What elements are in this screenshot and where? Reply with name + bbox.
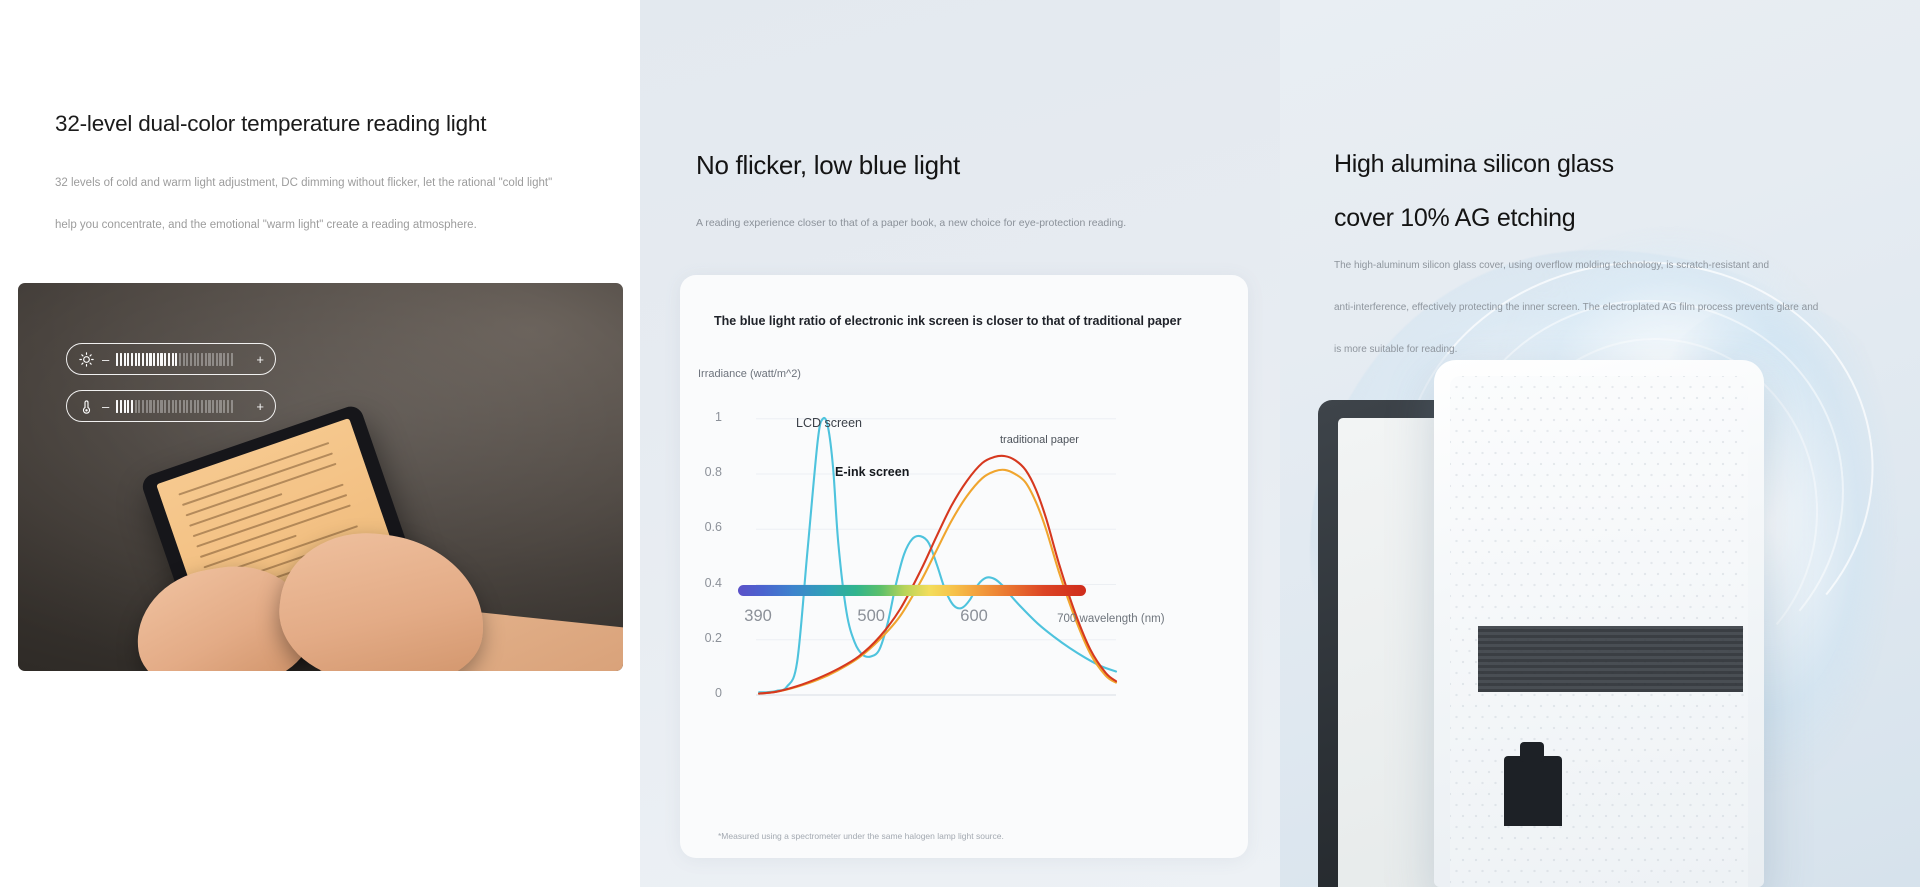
level-bar — [164, 353, 166, 366]
panel1-title: 32-level dual-color temperature reading … — [55, 111, 486, 137]
chart-y-tick-label: 0 — [692, 686, 722, 700]
chart-footnote: *Measured using a spectrometer under the… — [718, 831, 1004, 841]
brightness-slider-control[interactable]: – + — [66, 343, 276, 375]
level-bar — [183, 400, 185, 413]
level-bar — [172, 400, 174, 413]
level-bar — [160, 353, 162, 366]
level-bar — [138, 400, 140, 413]
level-bar — [223, 353, 225, 366]
chart-y-tick-label: 1 — [692, 410, 722, 424]
level-bar — [168, 400, 170, 413]
panel2-title: No flicker, low blue light — [696, 150, 960, 181]
level-bar — [231, 353, 233, 366]
chart-y-tick-label: 0.4 — [692, 576, 722, 590]
chart-card-title: The blue light ratio of electronic ink s… — [714, 314, 1181, 328]
level-bar — [231, 400, 233, 413]
level-bar — [212, 400, 214, 413]
chart-annotation-lcd: LCD screen — [796, 416, 862, 430]
level-bar — [135, 353, 137, 366]
reading-light-photo: – + – + — [18, 283, 623, 671]
chart-series-line — [759, 418, 1116, 692]
level-bar — [120, 400, 122, 413]
chart-y-tick-label: 0.2 — [692, 631, 722, 645]
level-bar — [197, 353, 199, 366]
level-bar — [142, 353, 144, 366]
glass-cover-bezel — [1450, 376, 1748, 887]
level-bar — [157, 353, 159, 366]
chart-y-axis-title: Irradiance (watt/m^2) — [698, 368, 801, 380]
panel2-subtitle: A reading experience closer to that of a… — [696, 217, 1126, 229]
glass-cover-illustration — [1434, 360, 1764, 887]
level-bar — [116, 400, 118, 413]
level-bar — [146, 353, 148, 366]
level-bar — [146, 400, 148, 413]
level-bar — [157, 400, 159, 413]
spectral-irradiance-chart — [698, 395, 1130, 755]
panel3-title: High alumina silicon glass cover 10% AG … — [1334, 137, 1614, 245]
level-bar — [208, 400, 210, 413]
panel1-body: 32 levels of cold and warm light adjustm… — [55, 162, 615, 246]
level-bar — [219, 400, 221, 413]
level-bar — [116, 353, 118, 366]
level-bar — [194, 400, 196, 413]
ink-artwork-figure — [1504, 756, 1562, 826]
level-bar — [124, 400, 126, 413]
level-bar — [127, 353, 129, 366]
level-bar — [127, 400, 129, 413]
level-bar — [168, 353, 170, 366]
panel3-title-line-1: High alumina silicon glass — [1334, 137, 1614, 191]
level-bar — [153, 353, 155, 366]
chart-x-tick-label: 500 — [857, 607, 885, 626]
panel-glass-cover: High alumina silicon glass cover 10% AG … — [1280, 0, 1920, 887]
level-bar — [208, 353, 210, 366]
level-bar — [175, 400, 177, 413]
level-bar — [216, 400, 218, 413]
ink-artwork-strip — [1478, 626, 1743, 692]
panel-no-flicker: No flicker, low blue light A reading exp… — [640, 0, 1280, 887]
chart-x-tick-label: 700 wavelength (nm) — [1057, 613, 1164, 625]
level-bar — [135, 400, 137, 413]
level-bar — [190, 400, 192, 413]
level-bar — [131, 353, 133, 366]
level-bar — [201, 400, 203, 413]
level-bar — [138, 353, 140, 366]
panel3-body-line-3: is more suitable for reading. — [1334, 329, 1894, 371]
level-bar — [153, 400, 155, 413]
chart-y-tick-label: 0.8 — [692, 465, 722, 479]
level-bar — [205, 353, 207, 366]
level-bar — [149, 400, 151, 413]
temperature-minus-button[interactable]: – — [102, 400, 109, 413]
level-bar — [142, 400, 144, 413]
screen-text-line — [182, 452, 333, 506]
level-bar — [186, 400, 188, 413]
level-bar — [149, 353, 151, 366]
level-bar — [212, 353, 214, 366]
temperature-level-bars[interactable] — [116, 399, 249, 413]
level-bar — [227, 400, 229, 413]
level-bar — [183, 353, 185, 366]
level-bar — [179, 400, 181, 413]
chart-annotation-eink: E-ink screen — [835, 465, 909, 479]
level-bar — [197, 400, 199, 413]
screen-text-line — [186, 463, 337, 517]
chart-svg — [698, 395, 1130, 755]
level-bar — [205, 400, 207, 413]
chart-x-tick-label: 600 — [960, 607, 988, 626]
panel1-body-line-1: 32 levels of cold and warm light adjustm… — [55, 162, 615, 204]
chart-y-tick-label: 0.6 — [692, 520, 722, 534]
level-bar — [120, 353, 122, 366]
level-bar — [223, 400, 225, 413]
panel3-body-line-2: anti-interference, effectively protectin… — [1334, 287, 1894, 329]
level-bar — [194, 353, 196, 366]
thermometer-icon — [78, 398, 95, 415]
sun-icon — [78, 351, 95, 368]
level-bar — [216, 353, 218, 366]
level-bar — [227, 353, 229, 366]
level-bar — [175, 353, 177, 366]
panel3-body-line-1: The high-aluminum silicon glass cover, u… — [1334, 245, 1894, 287]
level-bar — [190, 353, 192, 366]
level-bar — [179, 353, 181, 366]
temperature-plus-button[interactable]: + — [256, 400, 264, 413]
level-bar — [172, 353, 174, 366]
brightness-plus-button[interactable]: + — [256, 353, 264, 366]
blue-light-chart-card: The blue light ratio of electronic ink s… — [680, 275, 1248, 858]
panel-reading-light: 32-level dual-color temperature reading … — [0, 0, 640, 887]
chart-x-tick-label: 390 — [744, 607, 772, 626]
level-bar — [201, 353, 203, 366]
visible-spectrum-colorbar — [738, 585, 1086, 596]
level-bar — [160, 400, 162, 413]
brightness-level-bars[interactable] — [116, 352, 249, 366]
color-temperature-slider-control[interactable]: – + — [66, 390, 276, 422]
brightness-minus-button[interactable]: – — [102, 353, 109, 366]
panel3-title-line-2: cover 10% AG etching — [1334, 191, 1614, 245]
product-feature-page: 32-level dual-color temperature reading … — [0, 0, 1920, 887]
level-bar — [164, 400, 166, 413]
level-bar — [124, 353, 126, 366]
panel1-body-line-2: help you concentrate, and the emotional … — [55, 204, 615, 246]
level-bar — [131, 400, 133, 413]
ink-artwork — [1478, 626, 1743, 826]
level-bar — [186, 353, 188, 366]
panel3-body: The high-aluminum silicon glass cover, u… — [1334, 245, 1894, 371]
chart-annotation-paper: traditional paper — [1000, 434, 1079, 446]
level-bar — [219, 353, 221, 366]
